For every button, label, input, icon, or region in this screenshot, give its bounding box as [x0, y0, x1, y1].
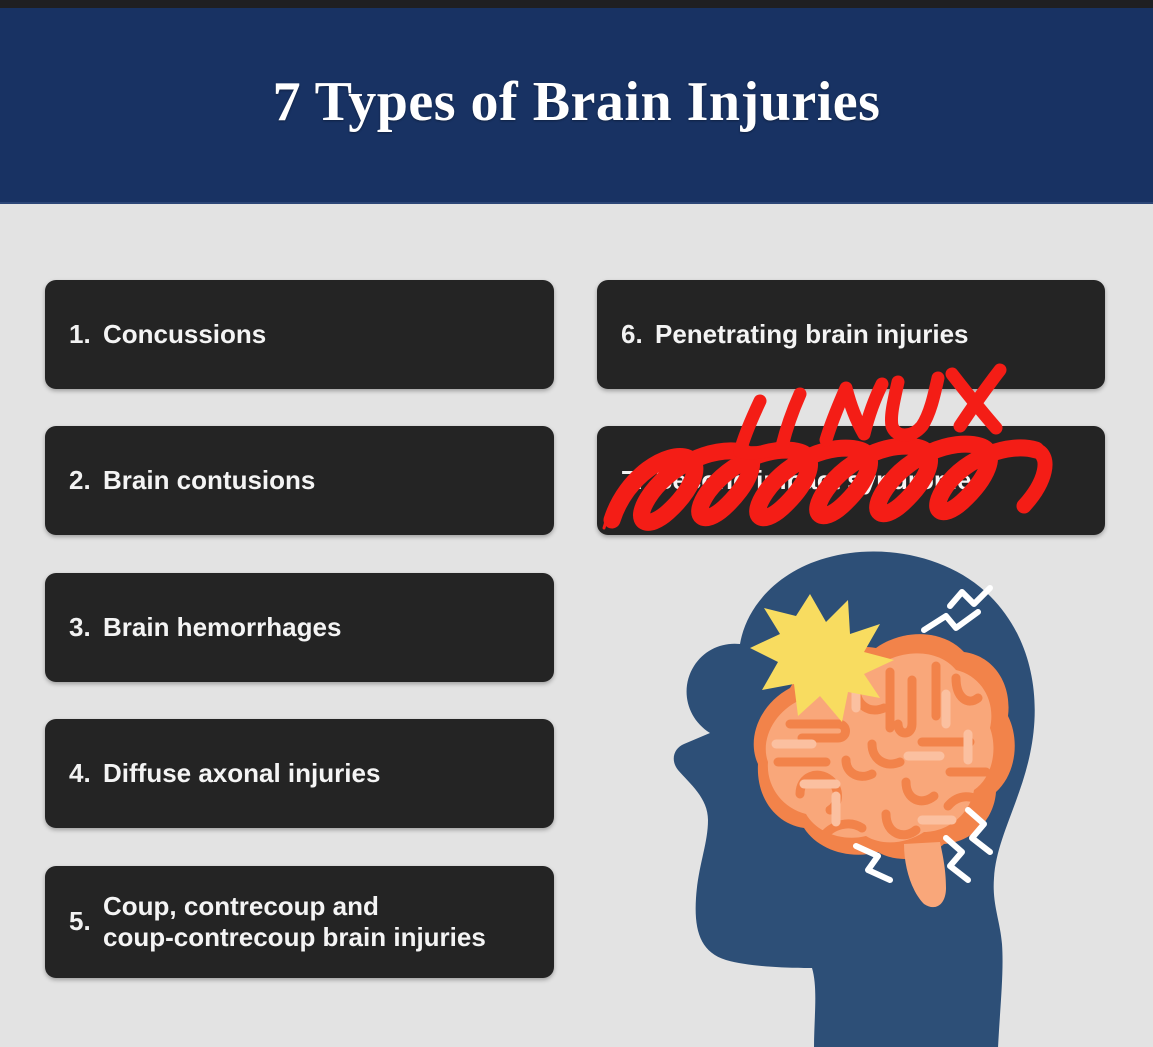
list-item-label: Second impact syndrome — [643, 465, 971, 496]
list-item-label: Coup, contrecoup and coup-contrecoup bra… — [91, 891, 486, 952]
list-item-number: 1. — [45, 320, 91, 350]
list-item-number: 2. — [45, 466, 91, 496]
list-item[interactable]: 5. Coup, contrecoup and coup-contrecoup … — [45, 866, 554, 978]
list-item[interactable]: 1. Concussions — [45, 280, 554, 389]
list-item-number: 4. — [45, 759, 91, 789]
list-item-number: 6. — [597, 320, 643, 350]
list-item[interactable]: 2. Brain contusions — [45, 426, 554, 535]
list-item-label: Brain contusions — [91, 465, 315, 496]
list-item-label: Brain hemorrhages — [91, 612, 341, 643]
list-item-number: 3. — [45, 613, 91, 643]
list-item-label: Concussions — [91, 319, 266, 350]
list-item[interactable]: 4. Diffuse axonal injuries — [45, 719, 554, 828]
list-item-label: Diffuse axonal injuries — [91, 758, 380, 789]
head-with-brain-injury-illustration — [650, 548, 1070, 1047]
page-title: 7 Types of Brain Injuries — [0, 74, 1153, 130]
list-item-number: 7. — [597, 466, 643, 496]
top-chrome-strip — [0, 0, 1153, 8]
list-item-struck-through[interactable]: 7. Second impact syndrome — [597, 426, 1105, 535]
infographic-page: 7 Types of Brain Injuries 1. Concussions… — [0, 0, 1153, 1047]
list-item[interactable]: 6. Penetrating brain injuries — [597, 280, 1105, 389]
header-band: 7 Types of Brain Injuries — [0, 8, 1153, 204]
list-item[interactable]: 3. Brain hemorrhages — [45, 573, 554, 682]
list-item-number: 5. — [45, 907, 91, 937]
list-item-label: Penetrating brain injuries — [643, 319, 969, 350]
